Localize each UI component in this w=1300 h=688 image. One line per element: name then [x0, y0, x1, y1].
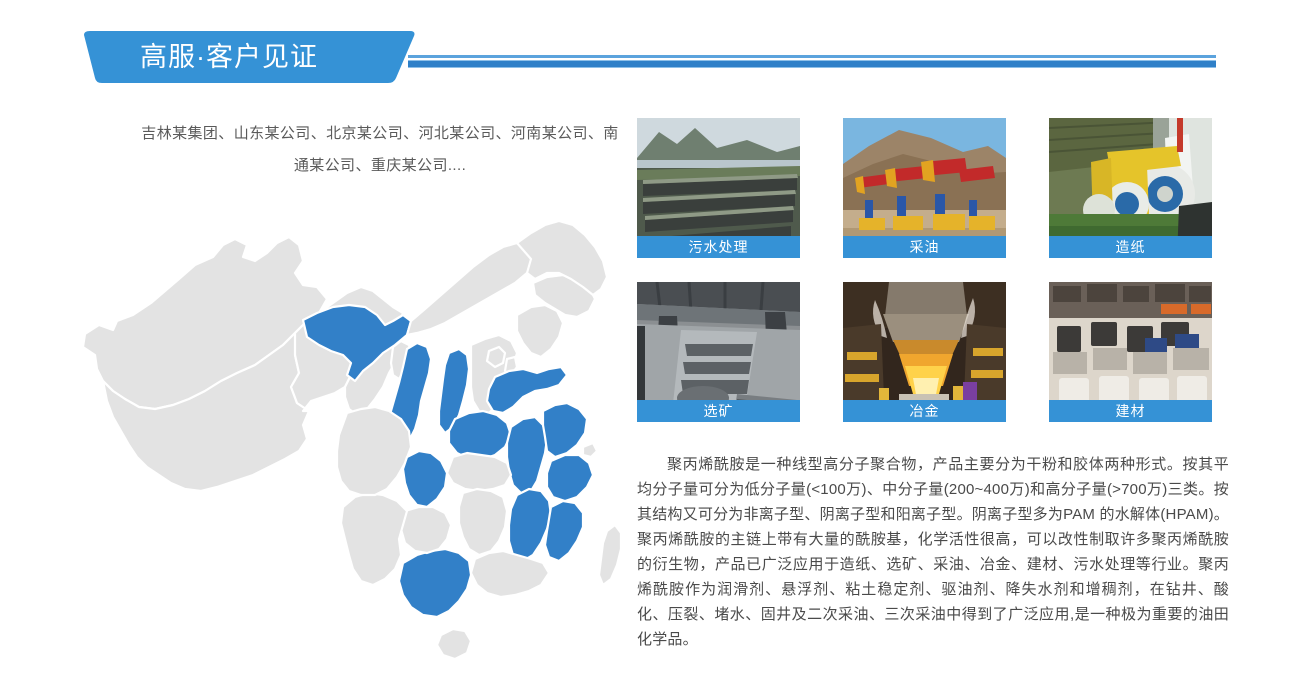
- province-jiangsu: [543, 403, 587, 457]
- industry-tile-label: 选矿: [637, 400, 800, 422]
- page-title: 高服·客户见证: [140, 40, 318, 74]
- province-chongqing: [403, 451, 447, 507]
- province-hainan: [437, 629, 471, 659]
- province-jiangxi: [509, 489, 551, 561]
- province-anhui: [507, 417, 547, 493]
- province-taiwan: [599, 525, 621, 585]
- province-hubei: [447, 453, 511, 491]
- industry-tiles-grid: 污水处理: [637, 118, 1213, 422]
- industry-tile-label: 造纸: [1049, 236, 1212, 258]
- province-fujian: [545, 501, 583, 561]
- client-list-text: 吉林某集团、山东某公司、北京某公司、河北某公司、河南某公司、南通某公司、重庆某公…: [140, 118, 620, 182]
- china-map-svg: [55, 195, 655, 688]
- header-banner: 高服·客户见证: [78, 31, 418, 83]
- header-rules: [408, 55, 1216, 68]
- industry-tile-label: 冶金: [843, 400, 1006, 422]
- header-rule-thin: [408, 55, 1216, 58]
- province-guangxi: [399, 549, 471, 617]
- province-shanghai: [583, 443, 597, 457]
- product-description-paragraph: 聚丙烯酰胺是一种线型高分子聚合物，产品主要分为干粉和胶体两种形式。按其平均分子量…: [637, 452, 1229, 652]
- province-henan: [449, 411, 511, 459]
- china-map: [55, 195, 655, 688]
- industry-tile[interactable]: 选矿: [637, 282, 800, 422]
- province-hunan: [459, 489, 507, 555]
- industry-tile[interactable]: 建材: [1049, 282, 1212, 422]
- province-guizhou: [401, 507, 451, 553]
- province-liaoning: [517, 305, 563, 357]
- province-guangdong: [471, 551, 549, 597]
- industry-tile-label: 采油: [843, 236, 1006, 258]
- province-inner-mongolia-east: [407, 243, 535, 335]
- province-zhejiang: [547, 455, 593, 501]
- province-yunnan: [341, 493, 407, 585]
- header-rule-thick: [408, 60, 1216, 68]
- province-sichuan: [337, 407, 411, 495]
- industry-tile[interactable]: 冶金: [843, 282, 1006, 422]
- industry-tile[interactable]: 污水处理: [637, 118, 800, 258]
- industry-tile-label: 建材: [1049, 400, 1212, 422]
- province-beijing: [487, 347, 505, 367]
- industry-tile[interactable]: 造纸: [1049, 118, 1212, 258]
- industry-tile-label: 污水处理: [637, 236, 800, 258]
- industry-tile[interactable]: 采油: [843, 118, 1006, 258]
